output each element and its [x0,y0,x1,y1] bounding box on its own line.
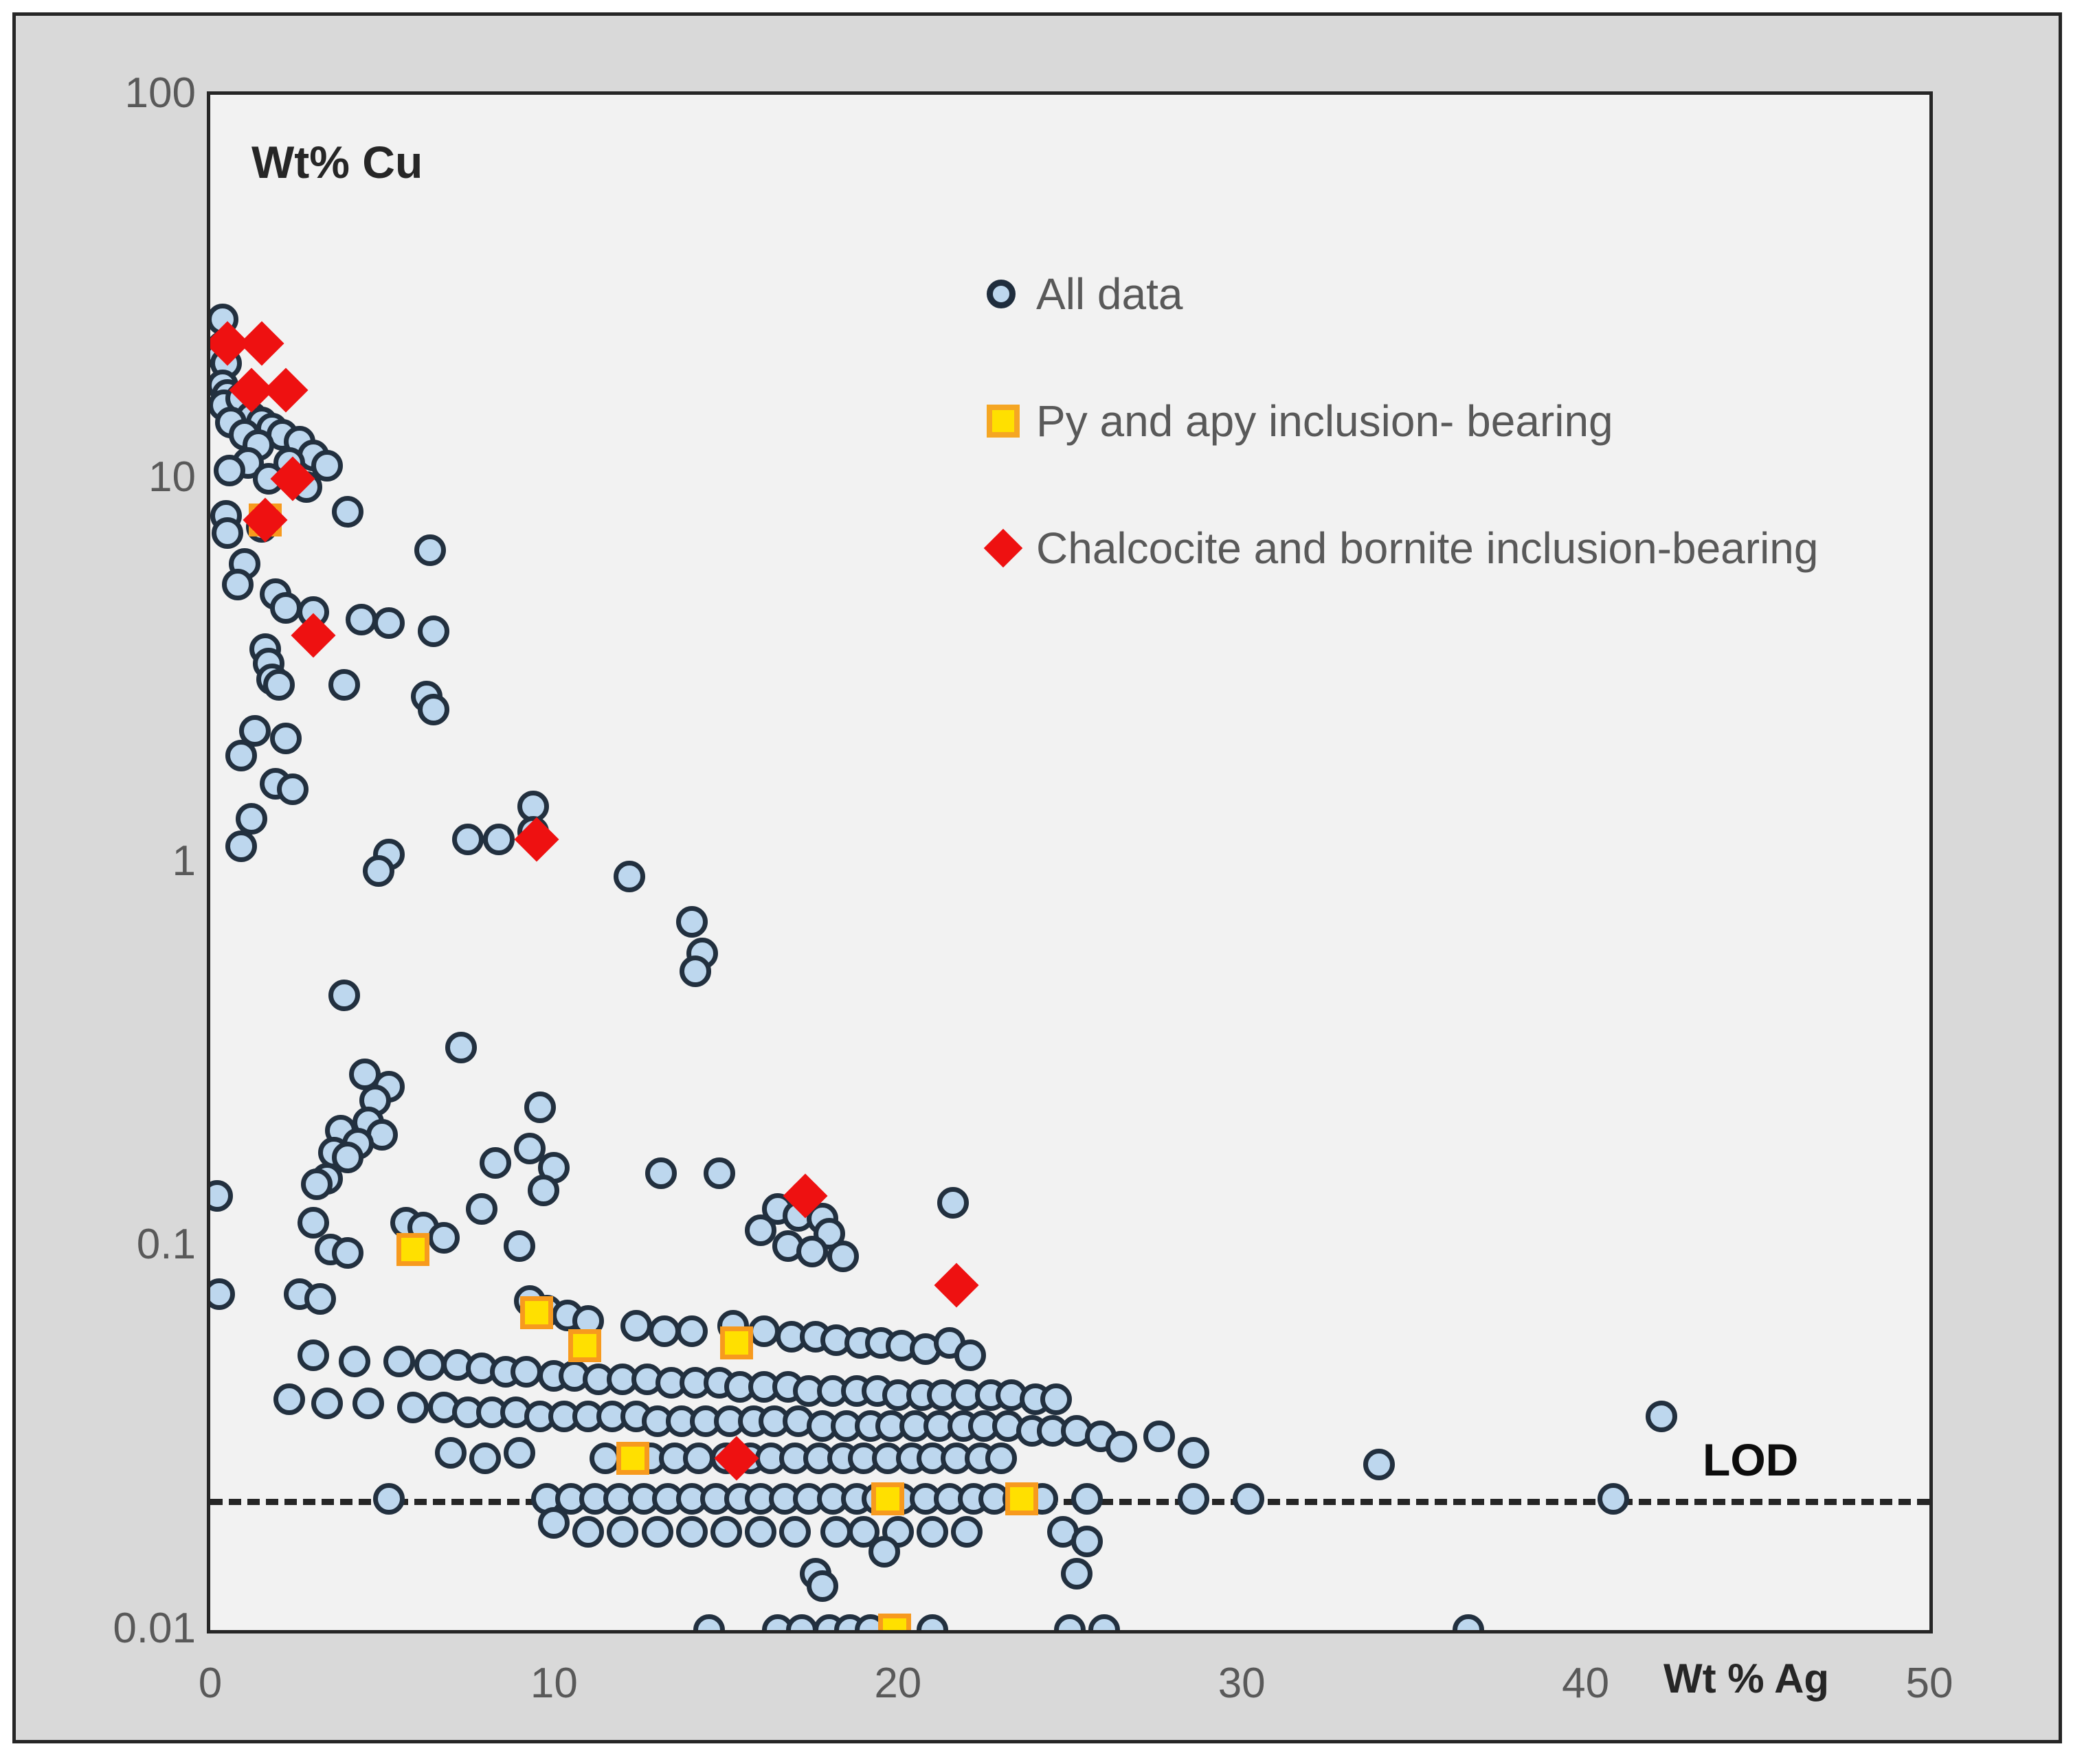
x-tick-label: 40 [1562,1659,1609,1708]
lod-label: LOD [1703,1434,1798,1486]
data-point-circle [607,1516,638,1548]
data-point-circle [807,1570,838,1602]
data-point-circle [469,1443,501,1474]
data-point-circle [572,1516,604,1548]
x-tick-label: 30 [1218,1659,1266,1708]
data-point-circle [676,1516,708,1548]
x-tick-label: 0 [199,1659,222,1708]
data-point-circle [1106,1431,1137,1462]
data-point-circle [683,1443,715,1474]
x-tick-label: 10 [530,1659,578,1708]
data-point-circle [649,1315,680,1347]
data-point-circle [1071,1483,1103,1515]
y-tick-label: 0.1 [16,1220,196,1269]
legend-label: Chalcocite and bornite inclusion-bearing [1036,523,1818,574]
plot-frame: Wt% Cu LOD All data Py and apy inclusion… [207,91,1933,1633]
data-point-square [568,1329,601,1362]
data-point-circle [796,1236,828,1267]
data-point-circle [704,1157,735,1189]
x-tick-label: 50 [1906,1659,1953,1708]
data-point-diamond [264,367,309,412]
data-point-circle [210,1278,235,1310]
data-point-circle [1054,1614,1086,1630]
data-point-circle [524,1092,556,1123]
y-tick-label: 1 [16,837,196,885]
data-point-circle [483,824,515,855]
data-point-square [616,1442,649,1475]
data-point-circle [428,1222,460,1254]
data-point-circle [620,1310,652,1342]
data-point-square [720,1326,753,1359]
data-point-circle [277,773,309,805]
data-point-circle [445,1032,477,1063]
data-point-circle [383,1346,415,1377]
data-point-circle [917,1516,948,1548]
data-point-circle [745,1516,776,1548]
data-point-circle [397,1392,429,1423]
data-point-circle [214,455,245,486]
data-point-circle [273,1383,305,1415]
chart-root: 1001010.10.01 01020304050 Wt % Ag Wt% Cu… [0,0,2084,1764]
data-point-circle [1178,1483,1209,1515]
data-point-circle [1233,1483,1264,1515]
data-point-circle [339,1346,370,1377]
data-point-circle [418,694,449,725]
data-point-diamond [934,1263,978,1308]
data-point-circle [745,1214,776,1246]
data-point-circle [642,1516,673,1548]
data-point-circle [418,615,449,647]
data-point-circle [645,1157,677,1189]
data-point-circle [263,669,295,701]
data-point-circle [1363,1449,1395,1480]
data-point-circle [937,1187,969,1219]
data-point-circle [538,1507,570,1539]
data-point-circle [528,1175,559,1206]
data-point-circle [504,1230,535,1262]
diamond-icon [987,534,1029,562]
data-point-circle [225,740,257,771]
data-point-circle [786,1614,818,1630]
data-point-circle [332,496,363,528]
y-tick-label: 0.01 [16,1604,196,1653]
data-point-circle [1088,1614,1120,1630]
data-point-circle [225,830,257,862]
data-point-circle [301,1168,333,1200]
data-point-circle [222,569,254,600]
y-tick-label: 10 [16,453,196,501]
data-point-circle [1646,1401,1677,1432]
circle-icon [987,280,1029,308]
data-point-circle [1061,1558,1093,1590]
data-point-circle [328,669,360,701]
chart-legend: All data Py and apy inclusion- bearing C… [987,270,1880,651]
data-point-circle [954,1339,986,1371]
data-point-circle [311,1388,343,1419]
data-point-circle [779,1516,811,1548]
data-point-circle [1143,1421,1175,1452]
data-point-circle [1071,1526,1103,1557]
y-tick-label: 100 [16,69,196,117]
data-point-circle [1178,1437,1209,1469]
data-point-circle [373,1483,405,1515]
legend-item-py-apy[interactable]: Py and apy inclusion- bearing [987,397,1880,445]
data-point-circle [363,855,394,887]
data-point-circle [693,1614,725,1630]
data-point-circle [820,1516,852,1548]
data-point-circle [435,1437,467,1469]
data-point-circle [466,1193,497,1225]
data-point-square [520,1296,553,1329]
data-point-circle [270,592,302,624]
data-point-circle [951,1516,983,1548]
legend-item-all-data[interactable]: All data [987,270,1880,318]
data-point-circle [1453,1614,1484,1630]
lod-line [210,1499,1929,1505]
data-point-square [871,1482,904,1515]
data-point-circle [452,824,484,855]
data-point-square [878,1614,911,1630]
data-point-circle [373,607,405,639]
data-point-circle [346,604,377,635]
data-point-circle [270,723,302,754]
data-point-circle [210,1180,233,1212]
chart-panel: 1001010.10.01 01020304050 Wt % Ag Wt% Cu… [12,12,2062,1743]
data-point-circle [298,1339,329,1371]
data-point-circle [614,861,645,892]
legend-label: All data [1036,269,1183,319]
data-point-circle [511,1356,542,1388]
data-point-circle [236,803,267,835]
data-point-circle [676,1315,708,1347]
data-point-square [396,1233,429,1266]
data-point-diamond [240,321,284,365]
data-point-circle [917,1614,948,1630]
data-point-circle [414,534,446,566]
data-point-circle [352,1388,384,1419]
data-point-circle [304,1283,336,1315]
x-axis-title: Wt % Ag [1663,1655,1829,1702]
data-point-circle [328,980,360,1011]
data-point-circle [1040,1383,1072,1415]
data-point-circle [827,1241,859,1272]
data-point-diamond [291,613,336,658]
x-tick-label: 20 [874,1659,921,1708]
legend-label: Py and apy inclusion- bearing [1036,396,1613,446]
legend-item-chalcocite-bornite[interactable]: Chalcocite and bornite inclusion-bearing [987,524,1880,572]
data-point-square [1005,1482,1038,1515]
data-point-circle [504,1437,535,1469]
square-icon [987,405,1029,438]
data-point-circle [212,517,243,549]
data-point-circle [332,1237,363,1269]
data-point-circle [676,906,708,938]
data-point-circle [680,955,711,987]
data-point-circle [1598,1483,1629,1515]
data-point-circle [480,1147,511,1179]
data-point-circle [985,1443,1017,1474]
data-point-circle [869,1536,900,1568]
data-point-circle [710,1516,742,1548]
